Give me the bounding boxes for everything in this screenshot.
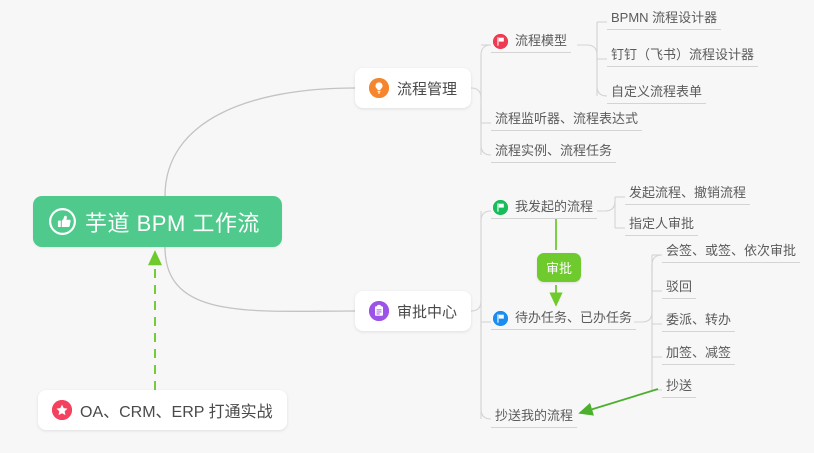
node-label: 委派、转办 — [666, 309, 731, 328]
node-label: 流程模型 — [515, 30, 567, 49]
node-dingtalk-feishu-designer[interactable]: 钉钉（飞书）流程设计器 — [607, 45, 758, 67]
node-bpmn-designer[interactable]: BPMN 流程设计器 — [607, 8, 721, 30]
node-start-cancel-process[interactable]: 发起流程、撤销流程 — [625, 183, 750, 205]
node-listener-expression[interactable]: 流程监听器、流程表达式 — [491, 109, 642, 131]
branch-label: 流程管理 — [397, 78, 457, 99]
node-label: 指定人审批 — [629, 213, 694, 232]
thumbs-up-icon — [49, 208, 76, 235]
node-label: 我发起的流程 — [515, 196, 593, 215]
liucheng-moxing-connectors — [577, 22, 607, 96]
relation-label-text: 审批 — [546, 261, 572, 276]
approval-relation-label[interactable]: 审批 — [537, 253, 581, 282]
lightbulb-pin-icon — [369, 78, 389, 98]
flag-icon — [493, 34, 508, 49]
branch-label: 审批中心 — [397, 301, 457, 322]
node-instance-task[interactable]: 流程实例、流程任务 — [491, 141, 616, 163]
node-label: 待办任务、已办任务 — [515, 307, 632, 326]
floating-node-label: OA、CRM、ERP 打通实战 — [80, 398, 273, 422]
root-node[interactable]: 芋道 BPM 工作流 — [33, 196, 282, 247]
my-started-process-connectors — [597, 197, 625, 228]
node-label: 发起流程、撤销流程 — [629, 182, 746, 201]
node-label: 钉钉（飞书）流程设计器 — [611, 44, 754, 63]
node-label: 驳回 — [666, 276, 692, 295]
node-my-started-process[interactable]: 我发起的流程 — [491, 197, 597, 219]
node-label: 流程监听器、流程表达式 — [495, 108, 638, 127]
node-reject[interactable]: 驳回 — [662, 277, 696, 299]
node-label: 会签、或签、依次审批 — [666, 240, 796, 259]
floating-node-oa-crm-erp[interactable]: OA、CRM、ERP 打通实战 — [38, 390, 287, 430]
node-assignee-approval[interactable]: 指定人审批 — [625, 214, 698, 236]
todo-done-tasks-connectors — [634, 255, 662, 390]
node-liucheng-moxing[interactable]: 流程模型 — [491, 31, 571, 53]
node-countersign[interactable]: 会签、或签、依次审批 — [662, 241, 800, 263]
node-label: 自定义流程表单 — [611, 81, 702, 100]
flag-icon — [493, 200, 508, 215]
node-delegate-transfer[interactable]: 委派、转办 — [662, 310, 735, 332]
root-label: 芋道 BPM 工作流 — [85, 206, 260, 238]
node-custom-form[interactable]: 自定义流程表单 — [607, 82, 706, 104]
node-label: 抄送 — [666, 375, 692, 394]
node-label: 加签、减签 — [666, 342, 731, 361]
node-cc[interactable]: 抄送 — [662, 376, 696, 398]
branch-node-shenpi-zhongxin[interactable]: 审批中心 — [355, 291, 471, 331]
star-icon — [52, 400, 72, 420]
flag-icon — [493, 311, 508, 326]
node-label: 流程实例、流程任务 — [495, 140, 612, 159]
mindmap-canvas[interactable]: 芋道 BPM 工作流 流程管理 流程模型 流程监听器、流程表达式 流程实例、流 — [0, 0, 814, 453]
node-cc-my-process[interactable]: 抄送我的流程 — [491, 406, 577, 428]
node-label: 抄送我的流程 — [495, 405, 573, 424]
branch-node-liucheng-guanli[interactable]: 流程管理 — [355, 68, 471, 108]
clipboard-icon — [369, 301, 389, 321]
node-add-remove-sign[interactable]: 加签、减签 — [662, 343, 735, 365]
cc-relation-arrow — [580, 389, 658, 413]
node-todo-done-tasks[interactable]: 待办任务、已办任务 — [491, 308, 636, 330]
node-label: BPMN 流程设计器 — [611, 7, 717, 26]
